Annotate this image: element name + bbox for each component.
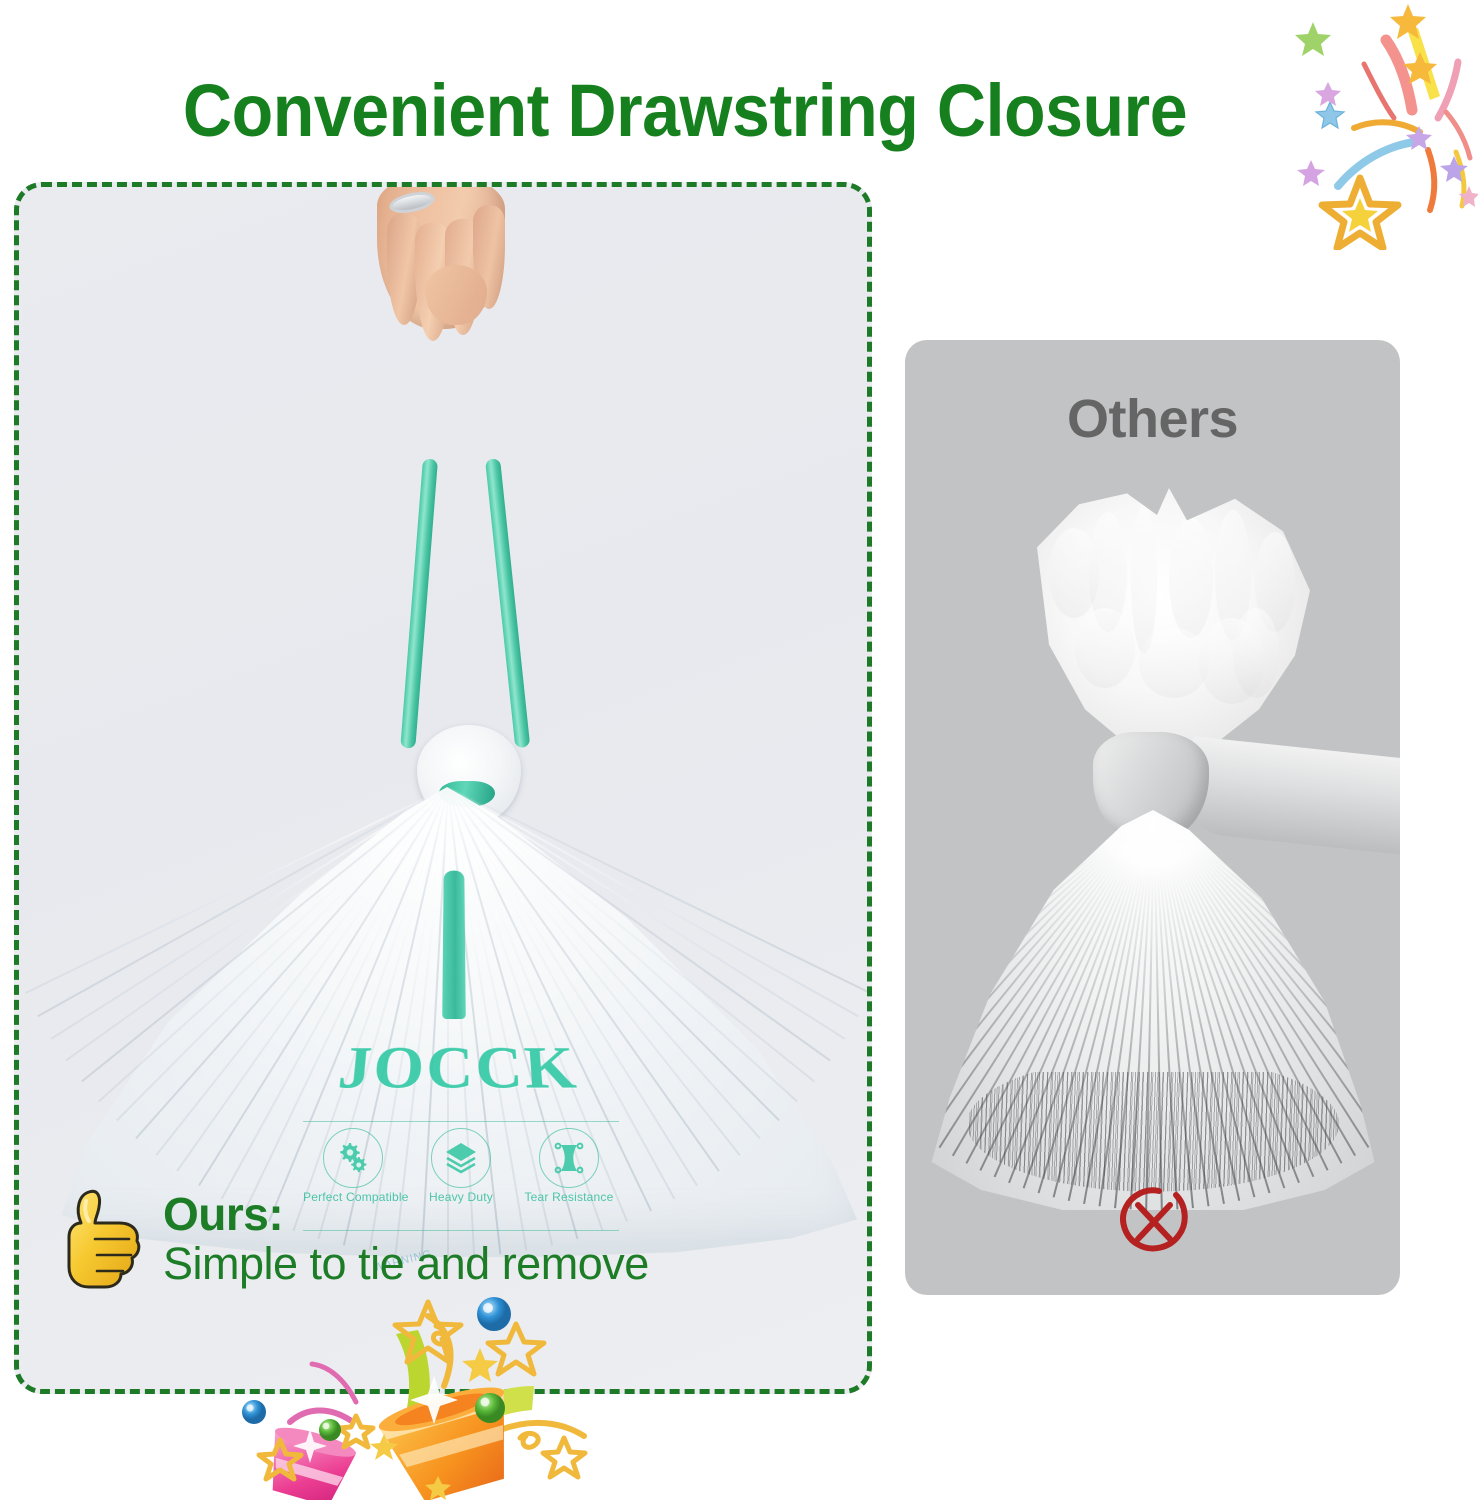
others-label: Others bbox=[905, 388, 1400, 450]
others-panel: Others bbox=[905, 340, 1400, 1295]
others-arm bbox=[1184, 736, 1400, 857]
others-bag-bottom bbox=[927, 810, 1379, 1210]
bag-printing: JOCCK bbox=[295, 855, 625, 1235]
others-bag-top bbox=[1019, 488, 1319, 758]
bag-crumple bbox=[1075, 608, 1135, 688]
circled-x-icon bbox=[1110, 1179, 1196, 1265]
page-title: Convenient Drawstring Closure bbox=[55, 68, 1315, 153]
layers-icon bbox=[431, 1128, 491, 1188]
thumbs-up-icon bbox=[59, 1187, 145, 1297]
bag-crumple bbox=[1169, 518, 1213, 638]
ours-label: Ours: bbox=[163, 1191, 649, 1238]
gears-icon bbox=[323, 1128, 383, 1188]
drawstring-right bbox=[485, 458, 530, 748]
bag-graphic-nozzle bbox=[442, 871, 466, 1019]
stretch-icon bbox=[539, 1128, 599, 1188]
ours-caption: Ours: Simple to tie and remove bbox=[59, 1187, 649, 1297]
thumb bbox=[425, 265, 487, 325]
drawstring-left bbox=[400, 458, 438, 748]
bag-crumple bbox=[1233, 608, 1279, 698]
ours-panel: JOCCK bbox=[14, 182, 872, 1394]
hand-holding-drawstring bbox=[371, 182, 521, 429]
ours-description: Simple to tie and remove bbox=[163, 1238, 649, 1289]
bag-crumple bbox=[1131, 504, 1157, 654]
party-popper-decoration bbox=[232, 1290, 632, 1500]
confetti-burst-decoration bbox=[1268, 0, 1478, 250]
bag-brand-text: JOCCK bbox=[311, 1035, 604, 1103]
